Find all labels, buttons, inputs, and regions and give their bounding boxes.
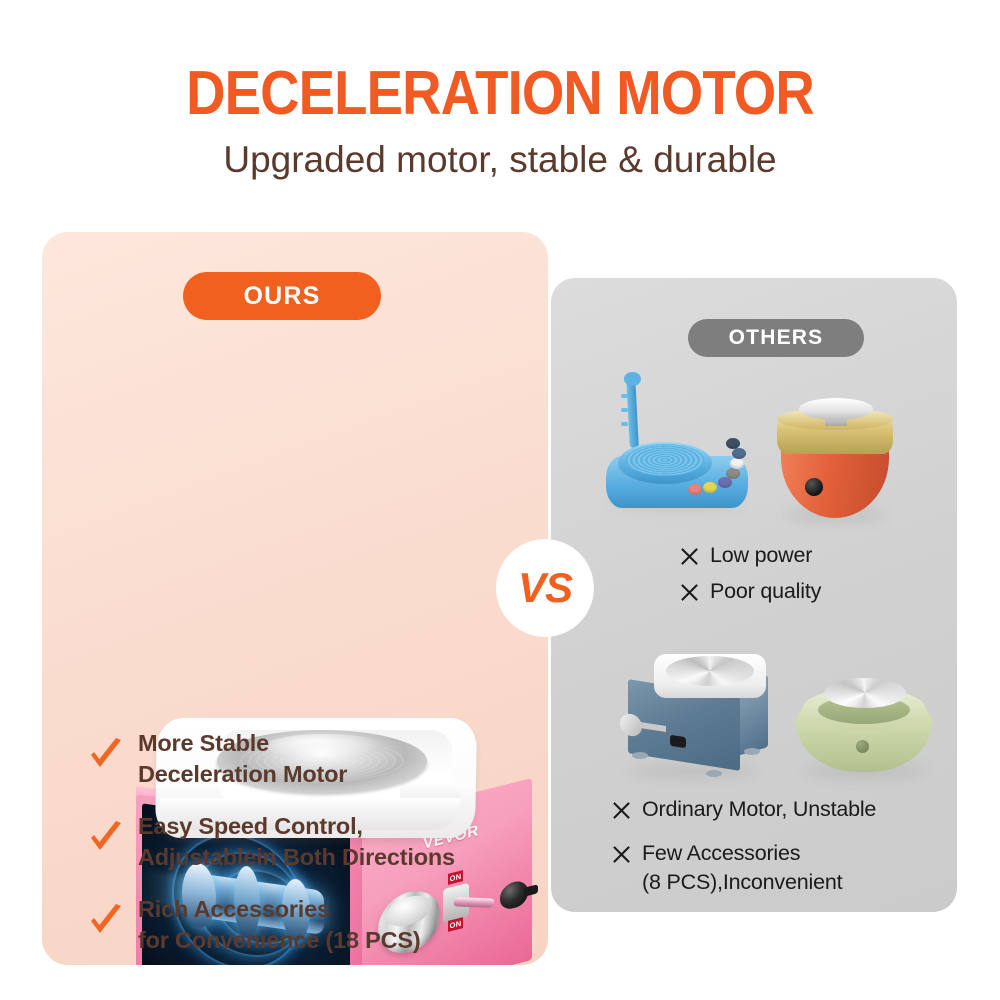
toy-wheel-arm-head (624, 372, 641, 386)
feature-line-1: Rich Accessories (138, 894, 421, 925)
orange-wheel-turntable (799, 398, 873, 420)
list-item: Ordinary Motor, Unstable (612, 795, 952, 823)
list-item: More Stable Deceleration Motor (88, 728, 508, 789)
paint-pot (688, 484, 702, 495)
check-icon (88, 736, 124, 772)
list-item: Easy Speed Control, Adjustablein Both Di… (88, 811, 508, 872)
con-text: Ordinary Motor, Unstable (642, 795, 876, 823)
paint-pot (732, 448, 746, 459)
toy-wheel-arm (626, 376, 639, 448)
toy-wheel-notch (621, 394, 628, 398)
x-icon (612, 801, 631, 820)
list-item: Rich Accessories for Convenience (18 PCS… (88, 894, 508, 955)
paint-pot (726, 468, 740, 479)
check-icon (88, 902, 124, 938)
paint-pot (703, 482, 717, 493)
ours-badge: OURS (183, 272, 381, 320)
competitor-blue-toy-wheel-image (602, 372, 752, 522)
feature-line-2: for Convenience (18 PCS) (138, 925, 421, 956)
green-wheel-knob (856, 740, 869, 753)
feature-line-2: Deceleration Motor (138, 759, 347, 790)
ours-feature-list: More Stable Deceleration Motor Easy Spee… (88, 728, 508, 977)
feature-line-1: More Stable (138, 728, 347, 759)
power-switch-stub (524, 884, 538, 896)
orange-wheel-knob (805, 478, 823, 496)
toy-wheel-turntable (626, 444, 704, 476)
slate-wheel-foot (706, 770, 722, 777)
con-line-2: (8 PCS),Inconvenient (642, 868, 842, 896)
feature-line-1: Easy Speed Control, (138, 811, 455, 842)
slate-wheel-turntable (666, 656, 754, 686)
paint-pot (730, 458, 744, 469)
list-item: Few Accessories (8 PCS),Inconvenient (612, 839, 952, 896)
con-line-1: Few Accessories (642, 839, 842, 867)
vs-label: VS (518, 564, 572, 612)
list-item: Low power (680, 541, 945, 569)
feature-text: Rich Accessories for Convenience (18 PCS… (138, 894, 421, 955)
check-icon (88, 819, 124, 855)
vs-badge: VS (497, 540, 593, 636)
competitor-orange-wheel-image (775, 392, 897, 520)
others-badge-label: OTHERS (729, 326, 824, 350)
con-text: Low power (710, 541, 812, 569)
feature-line-2: Adjustablein Both Directions (138, 842, 455, 873)
x-icon (680, 547, 699, 566)
ours-product-image: VEVOR ON ON (60, 355, 510, 700)
slate-wheel-switch (670, 735, 686, 749)
page-subtitle: Upgraded motor, stable & durable (0, 125, 1000, 181)
con-text: Few Accessories (8 PCS),Inconvenient (642, 839, 842, 896)
x-icon (680, 583, 699, 602)
toy-wheel-notch (621, 422, 628, 426)
slate-wheel-foot (632, 752, 648, 759)
list-item: Poor quality (680, 577, 945, 605)
slate-wheel-foot (744, 748, 760, 755)
others-cons-list-lower: Ordinary Motor, Unstable Few Accessories… (612, 795, 952, 912)
con-text: Poor quality (710, 577, 821, 605)
green-wheel-turntable (824, 678, 906, 708)
ours-badge-label: OURS (243, 282, 320, 311)
toy-wheel-notch (621, 408, 628, 412)
others-cons-list-upper: Low power Poor quality (680, 541, 945, 614)
x-icon (612, 845, 631, 864)
others-badge: OTHERS (688, 319, 864, 357)
paint-pot (726, 438, 740, 449)
feature-text: More Stable Deceleration Motor (138, 728, 347, 789)
feature-text: Easy Speed Control, Adjustablein Both Di… (138, 811, 455, 872)
page-title: DECELERATION MOTOR (60, 0, 940, 125)
competitor-slate-wheel-image (610, 652, 770, 787)
competitor-green-wheel-image (796, 662, 932, 782)
header: DECELERATION MOTOR Upgraded motor, stabl… (0, 0, 1000, 181)
